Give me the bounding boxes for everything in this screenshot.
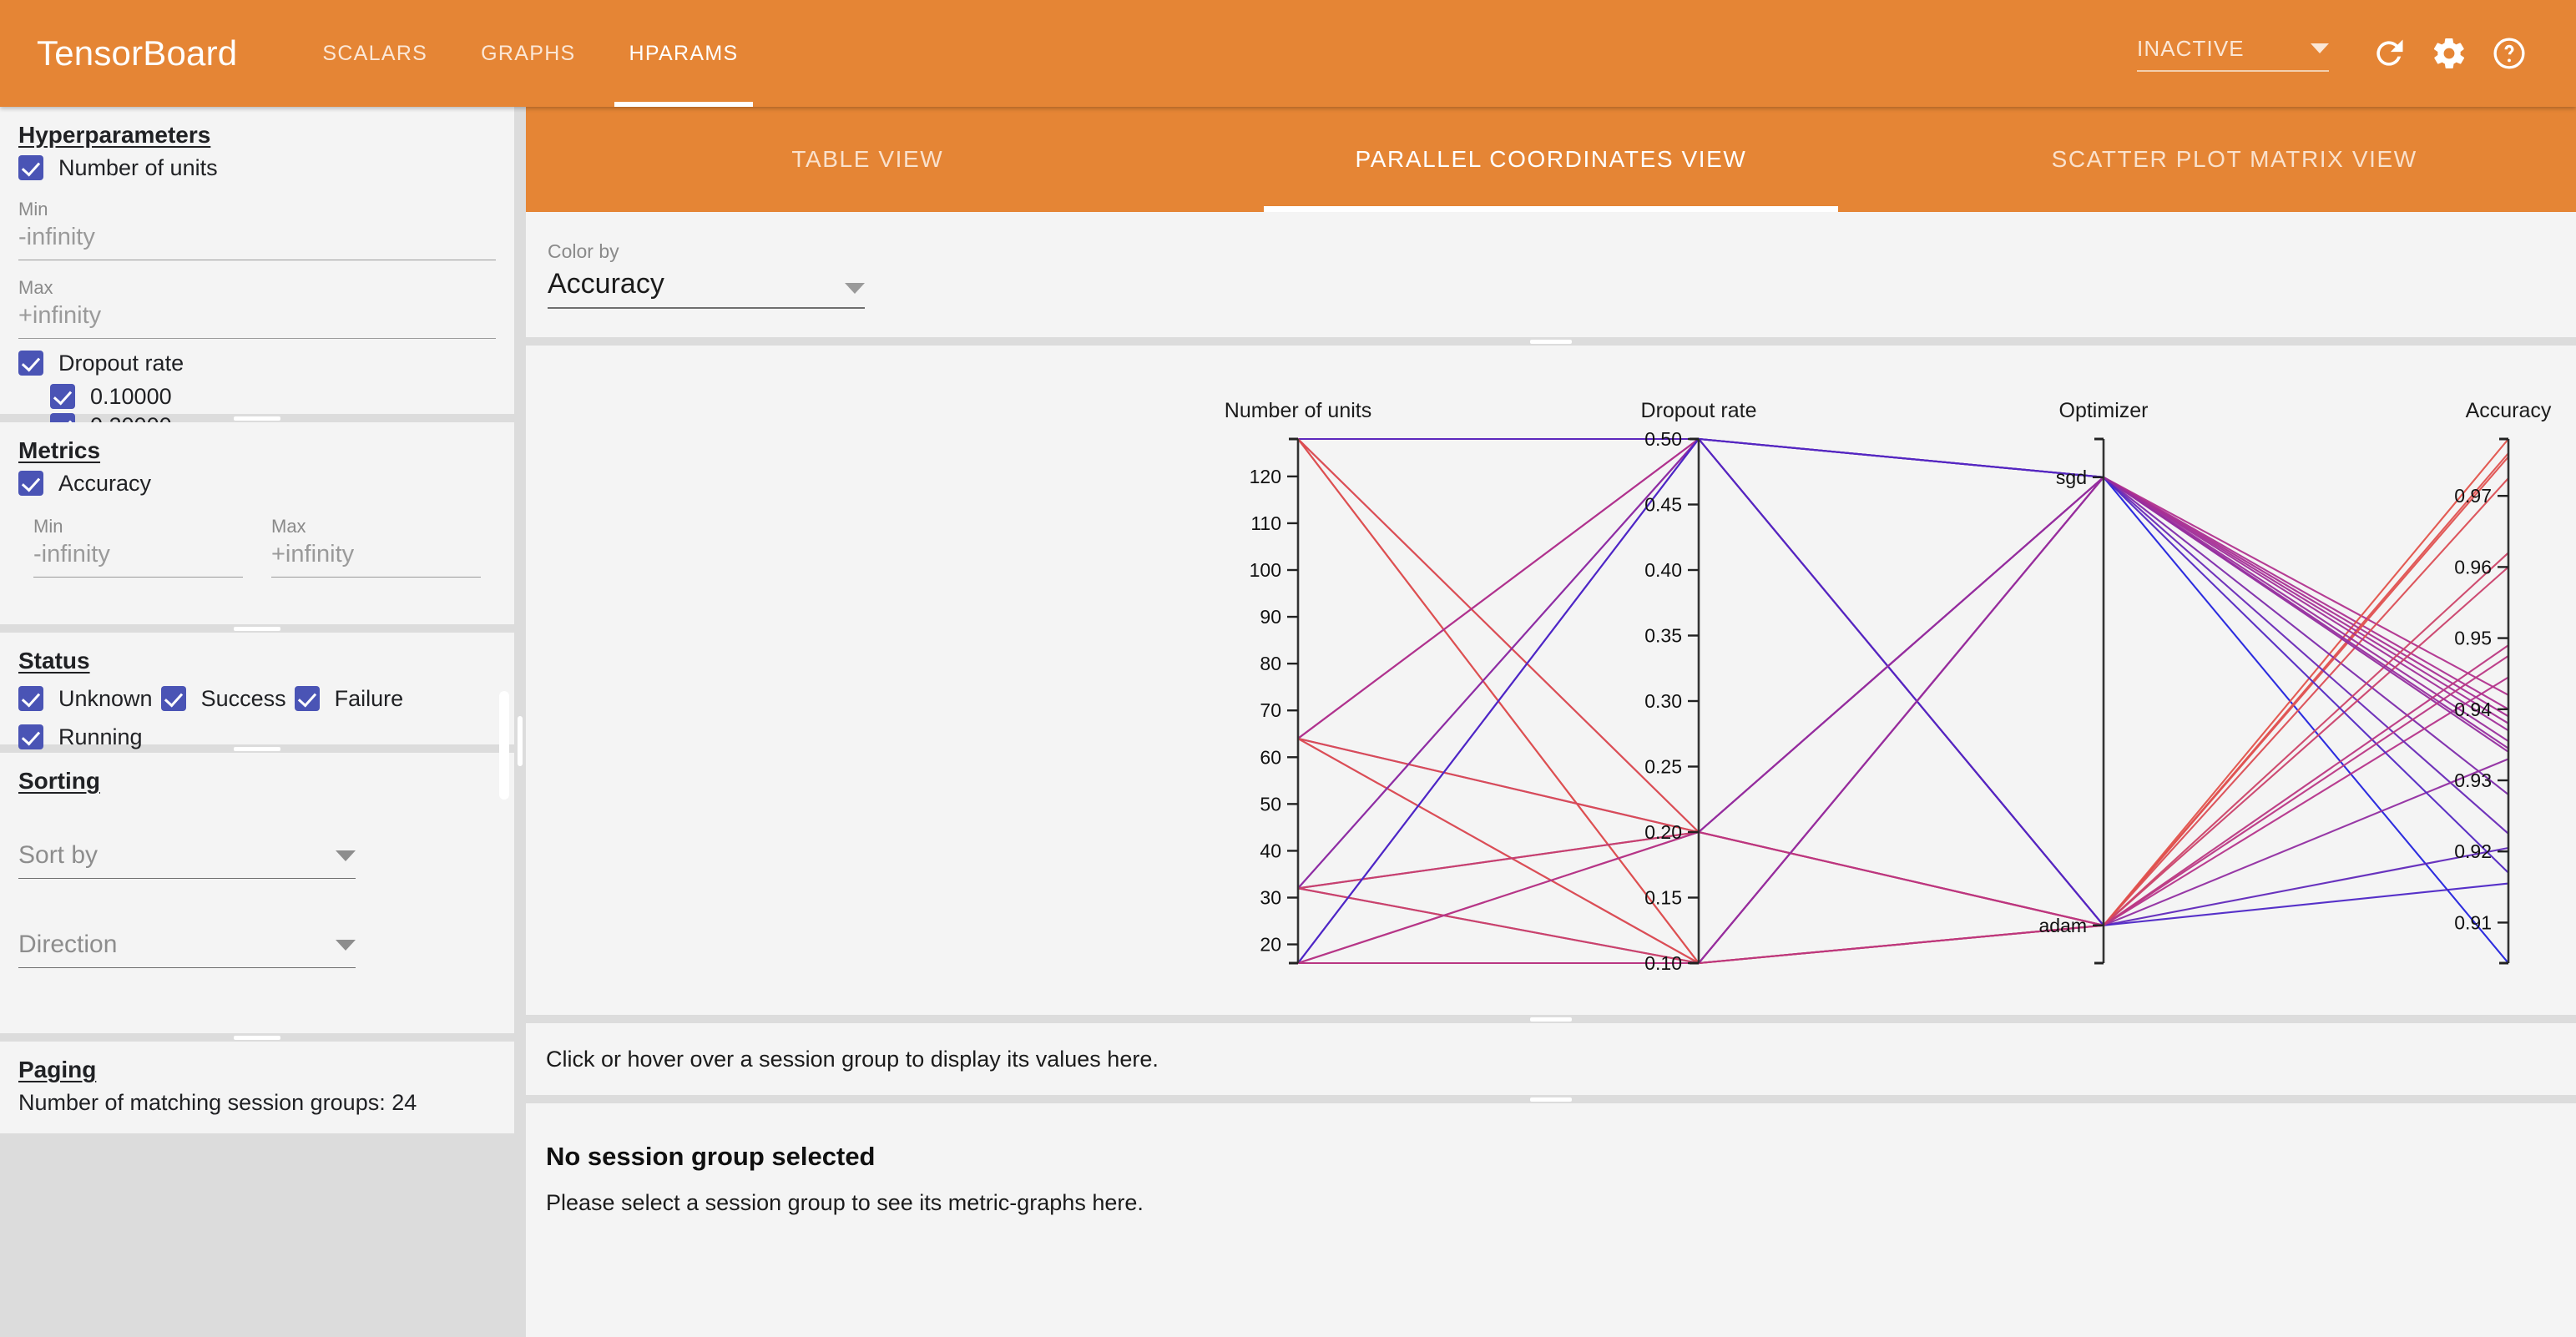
paging-title: Paging [18,1057,496,1083]
settings-button[interactable] [2419,23,2479,83]
filter-number-of-units[interactable]: Number of units [18,154,496,182]
session-group-line[interactable] [1298,478,2508,926]
app-header: TensorBoard SCALARS GRAPHS HPARAMS INACT… [0,0,2576,107]
label-status-running: Running [58,723,143,751]
refresh-button[interactable] [2359,23,2419,83]
units-max-value[interactable]: +infinity [18,299,496,339]
axis-tick-label: 40 [1260,840,1281,861]
direction-value: Direction [18,931,117,959]
units-min-label: Min [18,199,496,220]
matching-session-groups-text: Number of matching session groups: 24 [18,1088,496,1117]
session-group-line[interactable] [1298,439,2508,926]
axis-tick-label: adam [2038,915,2087,936]
parallel-coordinates-chart[interactable]: Number of units2030405060708090100110120… [526,346,2576,1015]
paging-card: Paging Number of matching session groups… [0,1042,514,1133]
panel-resize-handle[interactable] [1530,340,1572,344]
axis-tick-label: 0.93 [2454,769,2492,791]
tab-scatter-plot-matrix-view[interactable]: SCATTER PLOT MATRIX VIEW [1892,107,2576,212]
app-title: TensorBoard [37,33,237,73]
sidebar-scrollbar-thumb[interactable] [499,691,509,800]
card-resize-handle[interactable] [234,627,280,631]
checkbox-dropout-rate[interactable] [18,351,43,376]
session-group-line[interactable] [1298,439,2508,963]
label-dropout-0: 0.10000 [90,382,172,411]
checkbox-status-failure[interactable] [295,686,320,711]
sort-by-select[interactable]: Sort by [18,841,356,879]
axis-tick-label: 50 [1260,793,1281,815]
resize-grip [518,716,523,766]
session-group-line[interactable] [1298,477,2508,832]
direction-select[interactable]: Direction [18,931,356,968]
label-number-of-units: Number of units [58,154,218,182]
help-icon [2491,35,2528,72]
axis-tick-label: 0.40 [1644,559,1682,581]
help-button[interactable] [2479,23,2539,83]
session-group-line[interactable] [1298,439,2508,926]
run-state-value: INACTIVE [2137,36,2245,62]
axis-title: Optimizer [2059,399,2149,422]
card-resize-handle[interactable] [234,416,280,421]
units-min-field[interactable]: Min -infinity [18,199,496,260]
main-content: TABLE VIEW PARALLEL COORDINATES VIEW SCA… [526,107,2576,1337]
chevron-down-icon [2311,43,2329,53]
hover-hint-text: Click or hover over a session group to d… [546,1047,1159,1072]
axis-tick-label: 0.45 [1644,494,1682,516]
axis-tick-label: 0.10 [1644,952,1682,974]
refresh-icon [2371,35,2407,72]
axis-title: Number of units [1225,399,1371,422]
axis-tick-label: 90 [1260,606,1281,628]
session-group-line[interactable] [1298,439,2508,963]
chevron-down-icon [336,850,356,861]
units-min-value[interactable]: -infinity [18,220,496,260]
sorting-title: Sorting [18,768,496,795]
gear-icon [2431,35,2467,72]
hyperparameters-card: Hyperparameters Number of units Min -inf… [0,107,514,414]
axis-tick-label: 0.96 [2454,556,2492,578]
axis-tick-label: 80 [1260,653,1281,674]
filter-dropout-rate[interactable]: Dropout rate [18,349,496,377]
checkbox-number-of-units[interactable] [18,155,43,180]
label-status-success: Success [201,684,286,713]
axis-tick-label: 0.92 [2454,840,2492,862]
axis-tick-label: 0.94 [2454,699,2492,720]
tab-parallel-coordinates-view[interactable]: PARALLEL COORDINATES VIEW [1210,107,1893,212]
axis-tick-label: 0.91 [2454,911,2492,933]
color-by-select[interactable]: Accuracy [548,268,865,309]
color-by-value: Accuracy [548,268,664,300]
status-checkbox-group: Unknown Success Failure Running [18,679,496,756]
axis-title: Accuracy [2466,399,2552,422]
session-group-line[interactable] [1298,645,2508,963]
accuracy-min-label: Min [33,516,243,537]
session-panel-body: Please select a session group to see its… [546,1190,2556,1216]
axis-tick-label: 0.15 [1644,887,1682,909]
parallel-coordinates-svg[interactable]: Number of units2030405060708090100110120… [526,346,2576,1015]
session-group-line[interactable] [1298,439,2508,926]
axis-title: Dropout rate [1641,399,1757,422]
accuracy-range-row: Min -infinity Max +infinity [18,516,496,578]
axis-tick-label: 0.97 [2454,485,2492,507]
run-state-selector[interactable]: INACTIVE [2137,36,2329,72]
accuracy-max-value[interactable]: +infinity [271,537,481,578]
nav-tab-graphs[interactable]: GRAPHS [454,0,602,107]
axis-tick-label: 0.95 [2454,628,2492,649]
label-status-unknown: Unknown [58,684,153,713]
filter-dropout-value[interactable]: 0.10000 [50,382,496,411]
panel-resize-handle[interactable] [1530,1097,1572,1102]
view-tab-bar: TABLE VIEW PARALLEL COORDINATES VIEW SCA… [526,107,2576,212]
filter-accuracy[interactable]: Accuracy [18,469,496,497]
checkbox-dropout-0[interactable] [50,384,75,409]
main-nav: SCALARS GRAPHS HPARAMS [295,0,765,107]
units-max-label: Max [18,277,496,299]
accuracy-min-field[interactable]: Min -infinity [33,516,243,578]
session-panel-title: No session group selected [546,1142,2556,1172]
checkbox-status-running[interactable] [18,724,43,749]
filter-status-running[interactable]: Running [18,723,143,751]
sidebar-resize-divider[interactable] [514,107,526,1337]
units-max-field[interactable]: Max +infinity [18,277,496,339]
status-card: Status Unknown Success Failure Running [0,633,514,744]
panel-resize-handle[interactable] [1530,1017,1572,1022]
axis-tick-label: 120 [1250,466,1281,487]
label-status-failure: Failure [335,684,404,713]
axis-number-of-units[interactable]: Number of units2030405060708090100110120 [1225,399,1371,963]
axis-tick-label: 110 [1250,512,1281,534]
metrics-card: Metrics Accuracy Min -infinity Max +infi… [0,422,514,624]
chevron-down-icon [845,283,865,294]
session-group-line[interactable] [1298,477,2508,889]
tab-table-view[interactable]: TABLE VIEW [526,107,1210,212]
color-by-panel: Color by Accuracy [526,212,2576,337]
axis-tick-label: 0.30 [1644,690,1682,712]
label-accuracy: Accuracy [58,469,151,497]
session-group-line[interactable] [1298,656,2508,963]
axis-tick-label: 0.35 [1644,625,1682,647]
card-resize-handle[interactable] [234,747,280,751]
filter-sidebar: Hyperparameters Number of units Min -inf… [0,107,514,1337]
filter-status-unknown[interactable]: Unknown [18,684,153,713]
session-group-line[interactable] [1298,439,2508,963]
color-by-label: Color by [548,240,2554,263]
accuracy-min-value[interactable]: -infinity [33,537,243,578]
hover-values-panel: Click or hover over a session group to d… [526,1023,2576,1095]
hyperparameters-title: Hyperparameters [18,122,496,149]
checkbox-accuracy[interactable] [18,471,43,496]
series-lines [1298,439,2508,963]
axis-tick-label: 60 [1260,746,1281,768]
header-actions: INACTIVE [2137,23,2539,83]
session-group-panel: No session group selected Please select … [526,1103,2576,1337]
nav-tab-scalars[interactable]: SCALARS [295,0,454,107]
chevron-down-icon [336,940,356,951]
axis-tick-label: 100 [1250,559,1281,581]
sort-by-value: Sort by [18,841,98,870]
metrics-title: Metrics [18,437,496,464]
session-group-line[interactable] [1298,439,2508,926]
axis-tick-label: 0.25 [1644,756,1682,778]
axis-tick-label: 30 [1260,887,1281,909]
nav-tab-hparams[interactable]: HPARAMS [603,0,765,107]
axis-tick-label: 20 [1260,934,1281,956]
accuracy-max-label: Max [271,516,481,537]
session-group-line[interactable] [1298,439,2508,963]
accuracy-max-field[interactable]: Max +infinity [271,516,481,578]
axis-tick-label: sgd [2056,467,2087,488]
session-group-line[interactable] [1298,439,2508,963]
checkbox-status-success[interactable] [161,686,186,711]
status-title: Status [18,648,496,674]
filter-status-failure[interactable]: Failure [295,684,404,713]
sorting-card: Sorting Sort by Direction [0,753,514,1033]
axis-tick-label: 0.20 [1644,821,1682,843]
checkbox-status-unknown[interactable] [18,686,43,711]
session-group-line[interactable] [1298,439,2508,832]
session-group-line[interactable] [1298,457,2508,963]
filter-status-success[interactable]: Success [161,684,286,713]
axis-optimizer[interactable]: Optimizeradamsgd [2038,399,2148,963]
axis-tick-label: 70 [1260,699,1281,721]
label-dropout-rate: Dropout rate [58,349,184,377]
axis-tick-label: 0.50 [1644,428,1682,450]
card-resize-handle[interactable] [234,1036,280,1040]
